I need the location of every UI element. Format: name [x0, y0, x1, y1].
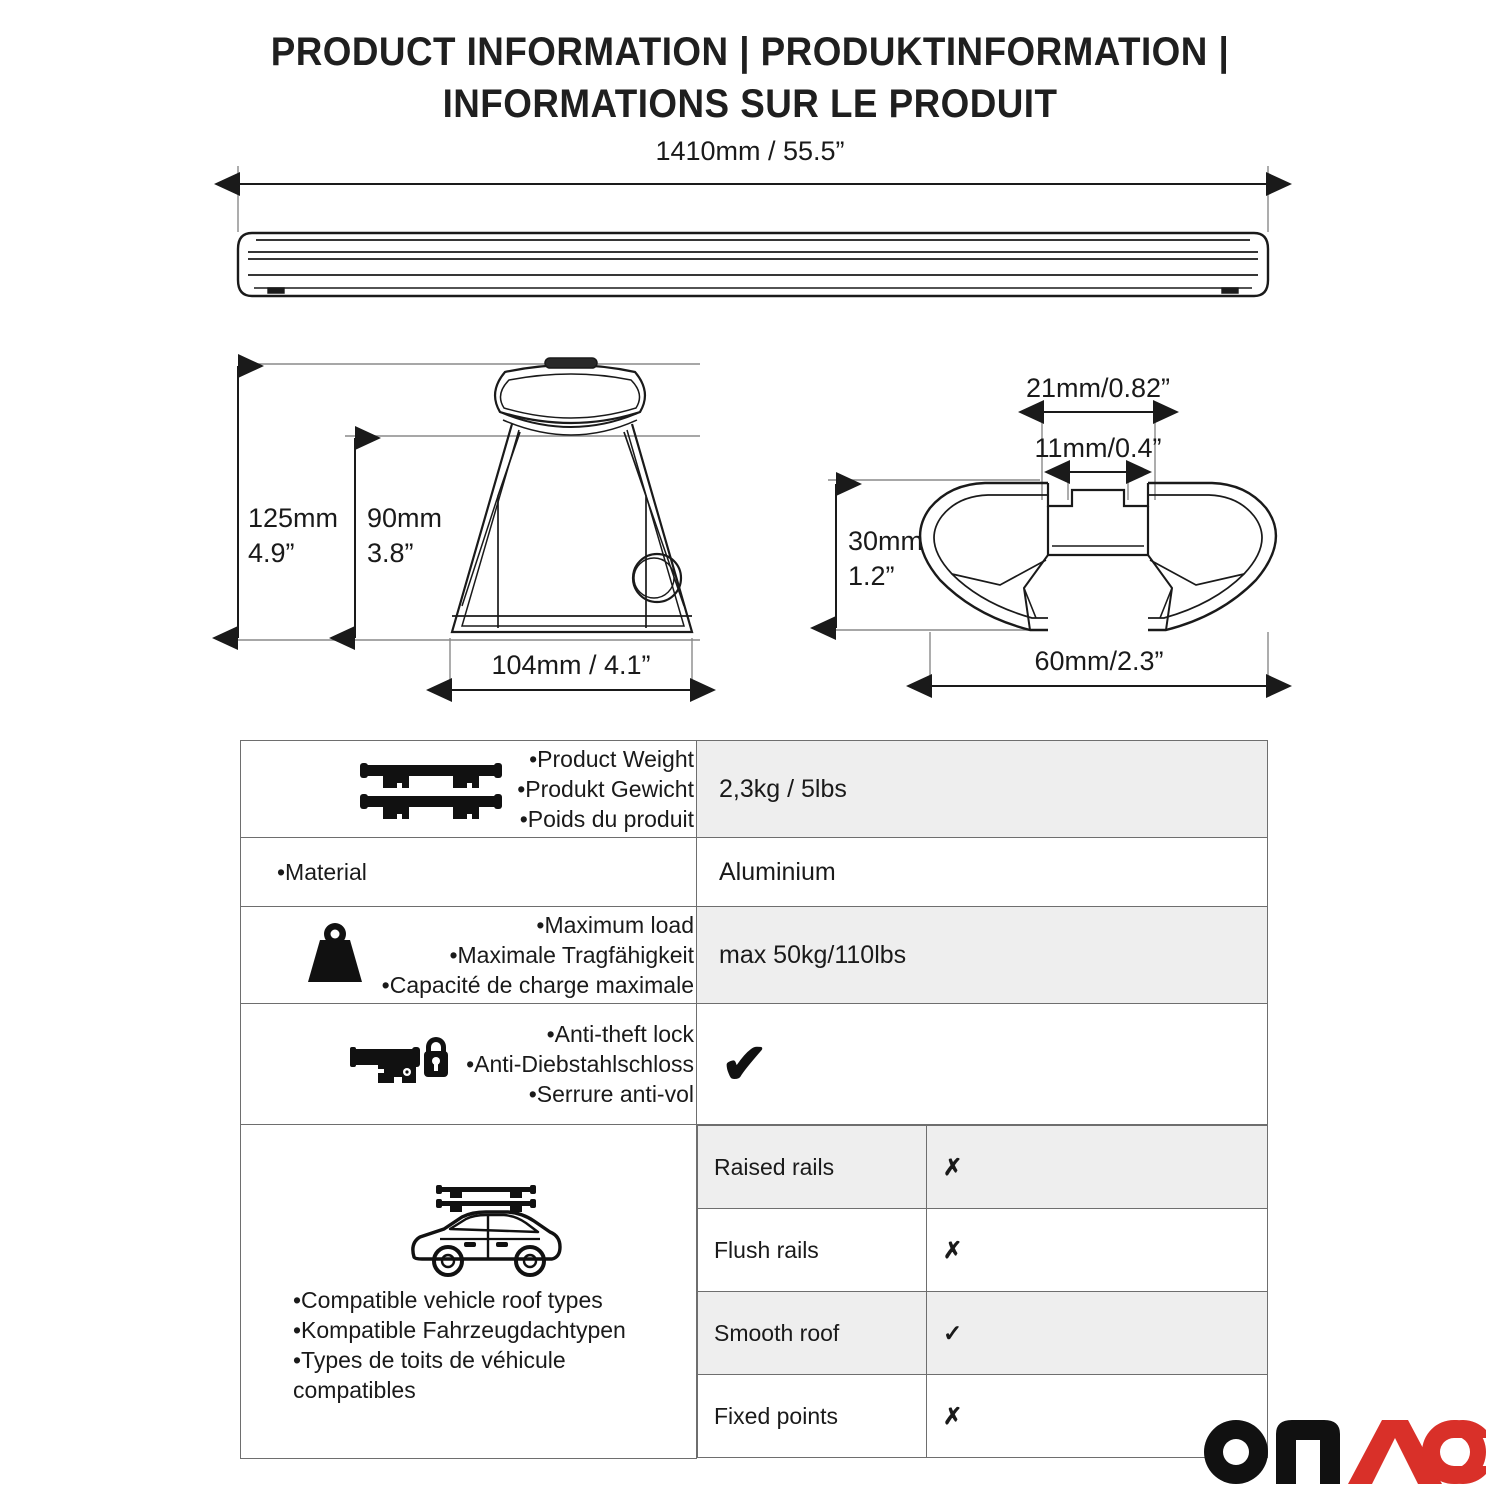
bullets-maximum-load: •Maximum load •Maximale Tragfähigkeit •C…	[382, 910, 696, 1000]
bullet-line: •Anti-Diebstahlschloss	[466, 1051, 694, 1077]
value-cell-vehicle-roof-types: Raised rails ✗ Flush rails ✗ Smooth roof…	[697, 1125, 1268, 1459]
label-cell-anti-theft-lock: •Anti-theft lock •Anti-Diebstahlschloss …	[241, 1004, 697, 1125]
title-line-1: PRODUCT INFORMATION | PRODUKTINFORMATION…	[60, 26, 1440, 78]
product-weight-value: 2,3kg / 5lbs	[697, 775, 1267, 804]
roof-types-subtable: Raised rails ✗ Flush rails ✗ Smooth roof…	[697, 1125, 1268, 1458]
crossbar-length-dimension: 1410mm / 55.5”	[238, 136, 1268, 232]
value-cell-anti-theft-lock: ✔	[697, 1004, 1268, 1125]
anti-theft-lock-checkmark: ✔	[697, 1036, 1267, 1092]
bullet-line: •Types de toits de véhicule	[293, 1347, 566, 1373]
lock-icon	[346, 1031, 456, 1097]
table-row-product-weight: •Product Weight •Produkt Gewicht •Poids …	[241, 741, 1268, 838]
bullet-line: •Kompatible Fahrzeugdachtypen	[293, 1317, 626, 1343]
bullet-line: •Produkt Gewicht	[517, 776, 694, 802]
material-value: Aluminium	[697, 858, 1267, 887]
car-with-roofbars-icon	[400, 1177, 568, 1285]
roof-type-label-smooth-roof: Smooth roof	[698, 1292, 927, 1375]
crossbar-side-view	[238, 233, 1268, 296]
table-row-vehicle-roof-types: •Compatible vehicle roof types •Kompatib…	[241, 1125, 1268, 1459]
bullet-line: •Serrure anti-vol	[529, 1081, 694, 1107]
bullets-vehicle-roof-types: •Compatible vehicle roof types •Kompatib…	[241, 1285, 628, 1405]
foot-height-total-line1: 125mm	[248, 503, 338, 533]
bullet-line: •Material	[277, 859, 367, 885]
bullet-line: •Anti-theft lock	[547, 1021, 694, 1047]
bullet-line: compatibles	[293, 1377, 416, 1403]
bullet-line: •Capacité de charge maximale	[382, 972, 694, 998]
bullets-product-weight: •Product Weight •Produkt Gewicht •Poids …	[517, 744, 696, 834]
table-row-material: •Material Aluminium	[241, 838, 1268, 907]
page-title: PRODUCT INFORMATION | PRODUKTINFORMATION…	[0, 26, 1500, 130]
value-cell-product-weight: 2,3kg / 5lbs	[697, 741, 1268, 838]
foot-profile-drawing: 125mm 4.9” 90mm 3.8”	[238, 358, 700, 700]
label-cell-maximum-load: •Maximum load •Maximale Tragfähigkeit •C…	[241, 907, 697, 1004]
bullet-line: •Poids du produit	[520, 806, 694, 832]
profile-height-line2: 1.2”	[848, 561, 895, 591]
bullet-line: •Maximum load	[536, 912, 694, 938]
roof-type-row-raised-rails: Raised rails ✗	[698, 1126, 1268, 1209]
roof-type-label-flush-rails: Flush rails	[698, 1209, 927, 1292]
roof-type-mark-smooth-roof: ✓	[927, 1292, 1268, 1375]
profile-width-label: 60mm/2.3”	[1034, 646, 1163, 676]
label-cell-material: •Material	[241, 838, 697, 907]
bullet-line: •Maximale Tragfähigkeit	[449, 942, 694, 968]
foot-height-inner-line1: 90mm	[367, 503, 442, 533]
roof-type-row-flush-rails: Flush rails ✗	[698, 1209, 1268, 1292]
value-cell-maximum-load: max 50kg/110lbs	[697, 907, 1268, 1004]
bullets-material: •Material	[241, 857, 696, 887]
roof-type-mark-raised-rails: ✗	[927, 1126, 1268, 1209]
weight-icon	[298, 922, 372, 988]
foot-height-inner-line2: 3.8”	[367, 538, 414, 568]
title-line-2: INFORMATIONS SUR LE PRODUIT	[60, 78, 1440, 130]
table-row-anti-theft-lock: •Anti-theft lock •Anti-Diebstahlschloss …	[241, 1004, 1268, 1125]
crossbar-length-label: 1410mm / 55.5”	[655, 136, 844, 166]
profile-height-line1: 30mm	[848, 526, 923, 556]
omac-logo-mark	[1196, 1412, 1486, 1490]
slot-outer-label: 21mm/0.82”	[1026, 373, 1170, 403]
slot-inner-label: 11mm/0.4”	[1034, 433, 1161, 463]
roof-type-row-fixed-points: Fixed points ✗	[698, 1375, 1268, 1458]
bullet-line: •Product Weight	[529, 746, 694, 772]
roof-type-row-smooth-roof: Smooth roof ✓	[698, 1292, 1268, 1375]
value-cell-material: Aluminium	[697, 838, 1268, 907]
omac-logo	[1196, 1412, 1486, 1490]
crossbars-icon	[355, 753, 507, 825]
label-cell-vehicle-roof-types: •Compatible vehicle roof types •Kompatib…	[241, 1125, 697, 1459]
foot-width-label: 104mm / 4.1”	[491, 650, 650, 680]
maximum-load-value: max 50kg/110lbs	[697, 941, 1267, 970]
bullet-line: •Compatible vehicle roof types	[293, 1287, 603, 1313]
roof-type-mark-flush-rails: ✗	[927, 1209, 1268, 1292]
bullets-anti-theft-lock: •Anti-theft lock •Anti-Diebstahlschloss …	[466, 1019, 696, 1109]
table-row-maximum-load: •Maximum load •Maximale Tragfähigkeit •C…	[241, 907, 1268, 1004]
roof-type-label-fixed-points: Fixed points	[698, 1375, 927, 1458]
roof-type-label-raised-rails: Raised rails	[698, 1126, 927, 1209]
label-cell-product-weight: •Product Weight •Produkt Gewicht •Poids …	[241, 741, 697, 838]
crossbar-cross-section-drawing: 21mm/0.82” 11mm/0.4” 30mm 1.2”	[828, 373, 1276, 696]
product-spec-table: •Product Weight •Produkt Gewicht •Poids …	[240, 740, 1268, 1459]
foot-height-total-line2: 4.9”	[248, 538, 295, 568]
